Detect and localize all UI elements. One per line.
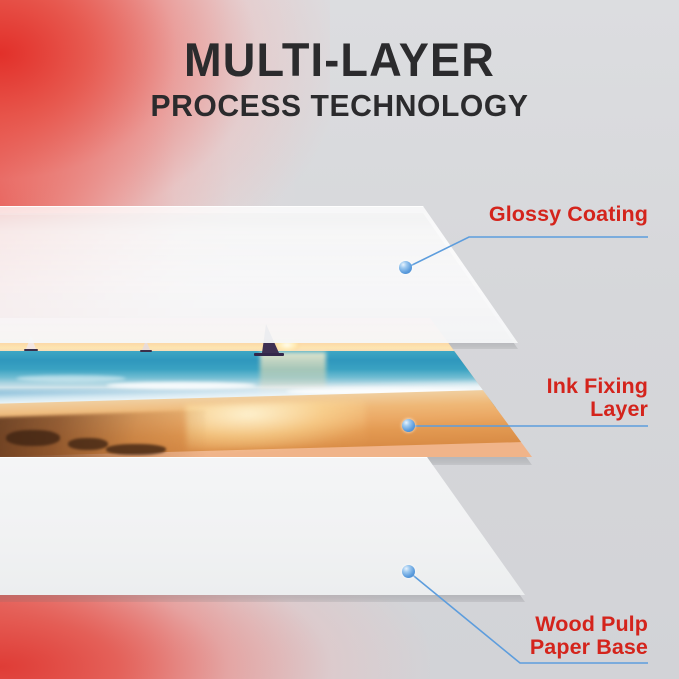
callout-label-ink-fixing: Ink Fixing Layer [547, 375, 648, 421]
photo-shore-rock-2 [68, 438, 108, 450]
background-red-glow-top-left [0, 0, 330, 215]
marker-dot-ink-fixing[interactable] [402, 419, 415, 432]
marker-dot-wood-pulp[interactable] [402, 565, 415, 578]
photo-shore-rock-1 [6, 430, 60, 446]
photo-sand-sun-reflection [185, 399, 366, 451]
photo-wave-crest-3 [16, 375, 126, 382]
callout-label-wood-pulp-paper-base: Wood Pulp Paper Base [530, 613, 648, 659]
photo-wave-crest-1 [106, 382, 256, 389]
marker-dot-glossy-coating[interactable] [399, 261, 412, 274]
infographic-canvas: MULTI-LAYER PROCESS TECHNOLOGY [0, 0, 679, 679]
photo-shore-rock-3 [106, 444, 166, 455]
callout-label-glossy-coating: Glossy Coating [489, 203, 648, 226]
